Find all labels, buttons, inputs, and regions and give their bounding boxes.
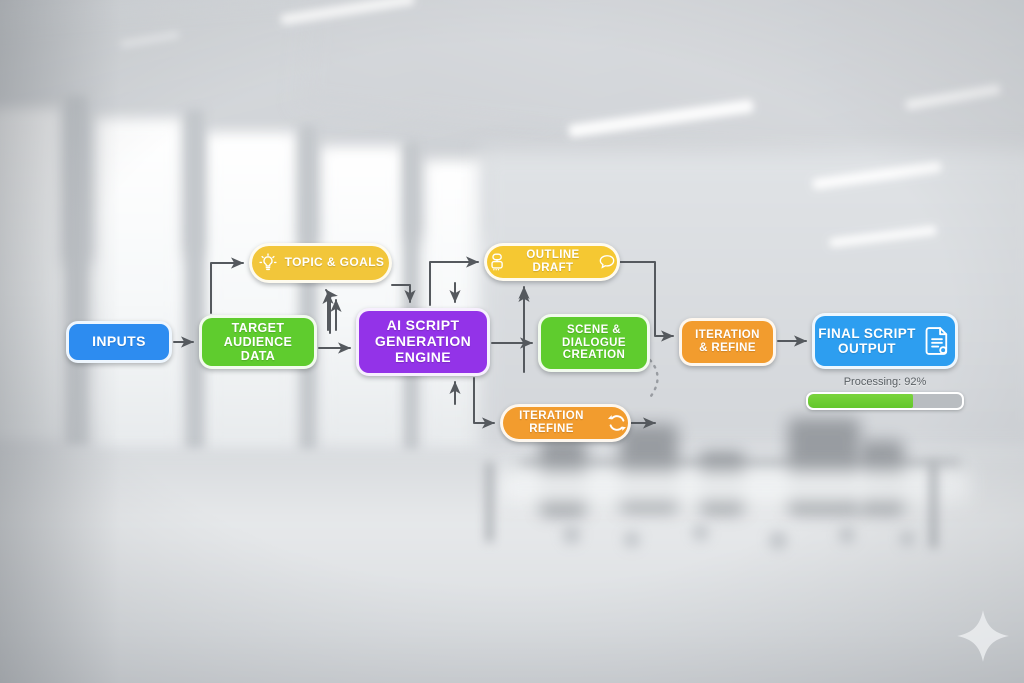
node-scene-and-dialogue-creation[interactable]: SCENE & DIALOGUE CREATION bbox=[538, 314, 650, 372]
node-iteration-and-refine-label: ITERATION & REFINE bbox=[695, 329, 760, 355]
node-outline-draft[interactable]: OUTLINE DRAFT bbox=[484, 243, 620, 281]
screenshot-canvas: INPUTS TARGET AUDIENCE DATA TOPIC & GOAL… bbox=[0, 0, 1024, 683]
node-target-audience-data-label: TARGET AUDIENCE DATA bbox=[202, 321, 314, 363]
node-outline-draft-label: OUTLINE DRAFT bbox=[515, 249, 591, 275]
processing-progress: Processing: 92% bbox=[806, 376, 964, 410]
node-inputs[interactable]: INPUTS bbox=[66, 321, 172, 363]
progress-label: Processing: 92% bbox=[806, 376, 964, 388]
node-scene-and-dialogue-creation-label: SCENE & DIALOGUE CREATION bbox=[562, 324, 626, 363]
lightbulb-icon bbox=[257, 252, 279, 274]
node-iteration-and-refine[interactable]: ITERATION & REFINE bbox=[679, 318, 776, 366]
node-ai-script-generation-engine[interactable]: AI SCRIPT GENERATION ENGINE bbox=[356, 308, 490, 376]
dotted-arc-decoration bbox=[648, 360, 658, 400]
refresh-cycle-icon bbox=[606, 412, 628, 434]
node-final-script-output-label: FINAL SCRIPT OUTPUT bbox=[818, 326, 916, 356]
node-ai-script-generation-engine-label: AI SCRIPT GENERATION ENGINE bbox=[375, 318, 471, 365]
node-final-script-output[interactable]: FINAL SCRIPT OUTPUT bbox=[812, 313, 958, 369]
node-inputs-label: INPUTS bbox=[92, 334, 146, 350]
node-iteration-refine-label: ITERATION REFINE bbox=[503, 410, 600, 436]
node-topic-and-goals-label: TOPIC & GOALS bbox=[285, 256, 385, 269]
chat-bubble-icon bbox=[487, 251, 509, 273]
progress-bar-fill bbox=[808, 394, 913, 408]
node-iteration-refine[interactable]: ITERATION REFINE bbox=[500, 404, 631, 442]
document-icon bbox=[922, 325, 952, 357]
workflow-diagram: INPUTS TARGET AUDIENCE DATA TOPIC & GOAL… bbox=[0, 0, 1024, 683]
chat-bubble-icon bbox=[597, 252, 617, 272]
progress-bar-track[interactable] bbox=[806, 392, 964, 410]
node-topic-and-goals[interactable]: TOPIC & GOALS bbox=[249, 243, 392, 283]
node-target-audience-data[interactable]: TARGET AUDIENCE DATA bbox=[199, 315, 317, 369]
